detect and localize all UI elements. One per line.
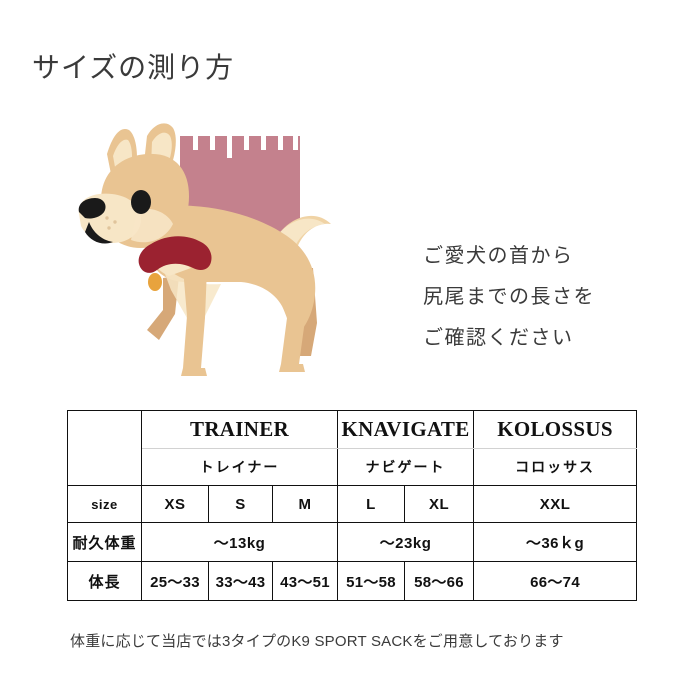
- brand-jp-knavigate: ナビゲート: [338, 449, 474, 486]
- size-s: S: [209, 486, 273, 523]
- length-l: 51〜58: [338, 562, 405, 601]
- row-label-size: size: [68, 486, 142, 523]
- length-s: 33〜43: [209, 562, 273, 601]
- footnote-text: 体重に応じて当店では3タイプのK9 SPORT SACKをご用意しております: [70, 630, 564, 651]
- size-xl: XL: [405, 486, 474, 523]
- table-row-brand-jp: トレイナー ナビゲート コロッサス: [68, 449, 637, 486]
- brand-en-knavigate: KNAVIGATE: [338, 411, 474, 449]
- chihuahua-with-ruler-illustration: [55, 118, 375, 383]
- table-row-weight: 耐久体重 〜13kg 〜23kg 〜36ｋg: [68, 523, 637, 562]
- length-m: 43〜51: [273, 562, 338, 601]
- weight-kolossus: 〜36ｋg: [474, 523, 637, 562]
- instruction-line-1: ご愛犬の首から: [423, 236, 595, 277]
- size-xs: XS: [142, 486, 209, 523]
- weight-knavigate: 〜23kg: [338, 523, 474, 562]
- instruction-text: ご愛犬の首から 尻尾までの長さを ご確認ください: [423, 236, 595, 359]
- row-label-length: 体長: [68, 562, 142, 601]
- table-row-brand-en: TRAINER KNAVIGATE KOLOSSUS: [68, 411, 637, 449]
- length-xxl: 66〜74: [474, 562, 637, 601]
- brand-jp-trainer: トレイナー: [142, 449, 338, 486]
- size-m: M: [273, 486, 338, 523]
- instruction-line-2: 尻尾までの長さを: [423, 277, 595, 318]
- instruction-line-3: ご確認ください: [423, 318, 595, 359]
- table-row-length: 体長 25〜33 33〜43 43〜51 51〜58 58〜66 66〜74: [68, 562, 637, 601]
- page-title: サイズの測り方: [32, 46, 234, 86]
- size-l: L: [338, 486, 405, 523]
- length-xs: 25〜33: [142, 562, 209, 601]
- size-xxl: XXL: [474, 486, 637, 523]
- brand-jp-kolossus: コロッサス: [474, 449, 637, 486]
- table-row-size: size XS S M L XL XXL: [68, 486, 637, 523]
- table-cell-corner-blank: [68, 411, 142, 486]
- size-table: TRAINER KNAVIGATE KOLOSSUS トレイナー ナビゲート コ…: [67, 410, 637, 601]
- length-xl: 58〜66: [405, 562, 474, 601]
- brand-en-kolossus: KOLOSSUS: [474, 411, 637, 449]
- size-table-container: TRAINER KNAVIGATE KOLOSSUS トレイナー ナビゲート コ…: [67, 410, 636, 601]
- brand-en-trainer: TRAINER: [142, 411, 338, 449]
- weight-trainer: 〜13kg: [142, 523, 338, 562]
- row-label-weight: 耐久体重: [68, 523, 142, 562]
